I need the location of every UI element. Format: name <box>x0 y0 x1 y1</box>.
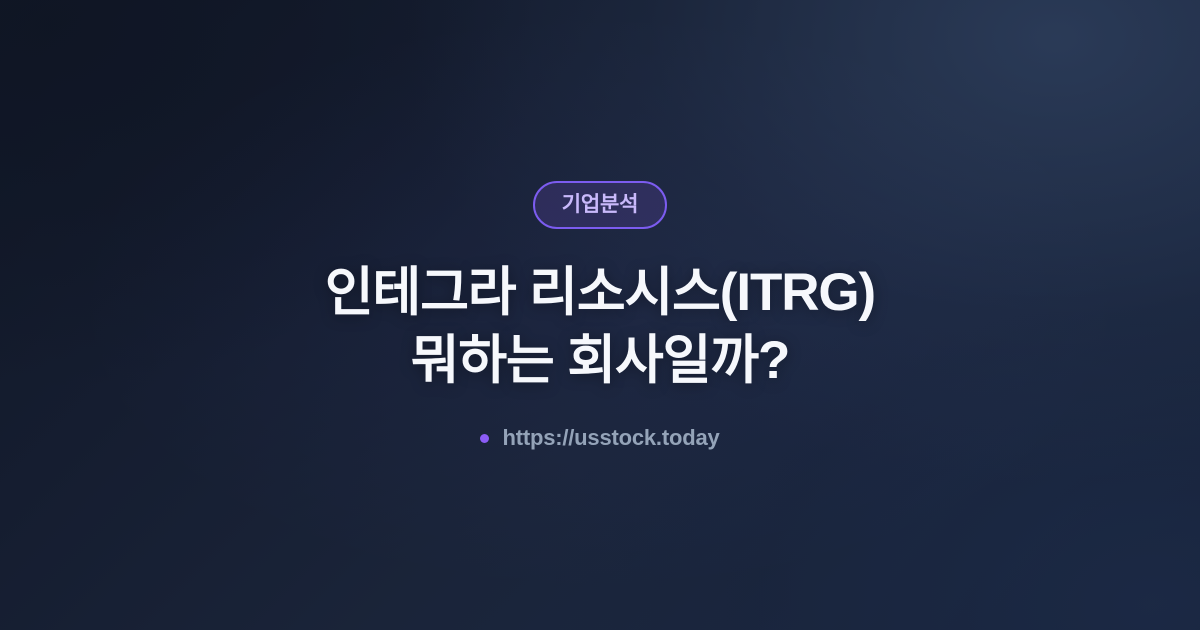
page-title-line-1: 인테그라 리소시스(ITRG) <box>325 259 875 327</box>
category-badge-label: 기업분석 <box>562 194 638 215</box>
page-title-line-2: 뭐하는 회사일까? <box>325 327 875 395</box>
page-title: 인테그라 리소시스(ITRG) 뭐하는 회사일까? <box>325 259 875 395</box>
card-content: 기업분석 인테그라 리소시스(ITRG) 뭐하는 회사일까? https://u… <box>0 0 1200 630</box>
open-graph-card: 기업분석 인테그라 리소시스(ITRG) 뭐하는 회사일까? https://u… <box>0 0 1200 630</box>
dot-icon <box>480 434 489 443</box>
site-url: https://usstock.today <box>480 427 719 449</box>
category-badge: 기업분석 <box>533 181 667 229</box>
site-url-text: https://usstock.today <box>502 427 719 449</box>
